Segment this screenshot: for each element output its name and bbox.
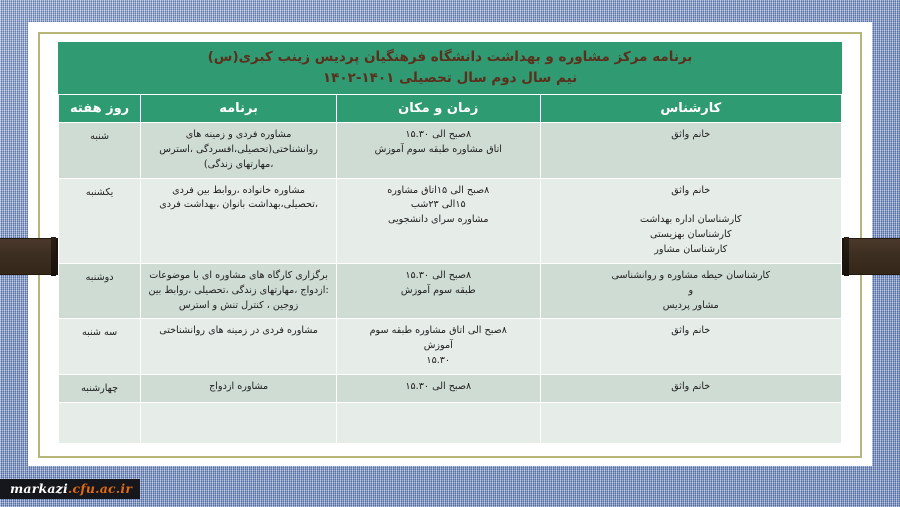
table-row: خانم واثق۸صبح الی اتاق مشاوره طبقه سومآم… [59,319,842,375]
cell-line: کارشناسان اداره بهداشت [548,213,834,228]
cell-program: مشاوره خانواده ،روابط بین فردی ،تحصیلی،ب… [141,178,337,263]
cell-line: کارشناسان حیطه مشاوره و روانشناسی [548,269,834,284]
title-line-2: نیم سال دوم سال تحصیلی ۱۴۰۱-۱۴۰۲ [323,68,577,89]
cell-day [59,402,141,443]
cell-program [141,402,337,443]
table-row: کارشناسان حیطه مشاوره و روانشناسیومشاور … [59,263,842,319]
cell-program: برگزاری کارگاه های مشاوره ای با موضوعات … [141,263,337,319]
column-header-expert: کارشناس [540,95,841,123]
table-row: خانم واثق۸صبح الی ۱۵.۳۰اتاق مشاوره طبقه … [59,123,842,179]
cell-day: دوشنبه [59,263,141,319]
cell-line: ۱۵الی ۲۳شب [344,198,533,213]
schedule-body: خانم واثق۸صبح الی ۱۵.۳۰اتاق مشاوره طبقه … [59,123,842,444]
cell-line: مشاور پردیس [548,299,834,314]
cell-program: مشاوره فردی در زمینه های روانشناختی [141,319,337,375]
watermark-name: markazi [10,481,68,496]
cell-time-place [336,402,540,443]
cell-line: و [548,284,834,299]
cell-line: ۱۵.۳۰ [344,354,533,369]
watermark-domain: .cfu.ac.ir [68,481,132,496]
schedule-table: کارشناس زمان و مکان برنامه روز هفته خانم… [58,94,842,444]
cell-expert: خانم واثق [540,123,841,179]
table-row-empty [59,402,842,443]
cell-day: شنبه [59,123,141,179]
cell-line: ۸صبح الی ۱۵اتاق مشاوره [344,184,533,199]
column-header-time-place: زمان و مکان [336,95,540,123]
ribbon-right [842,238,900,275]
cell-expert: کارشناسان حیطه مشاوره و روانشناسیومشاور … [540,263,841,319]
cell-expert: خانم واثق [540,319,841,375]
column-header-program: برنامه [141,95,337,123]
slide-card: برنامه مرکز مشاوره و بهداشت دانشگاه فرهن… [28,22,872,466]
cell-line: خانم واثق [548,380,834,395]
cell-line: کارشناسان بهزیستی [548,228,834,243]
ribbon-left [0,238,58,275]
cell-line: ۸صبح الی ۱۵.۳۰ [344,128,533,143]
cell-line: ۸صبح الی ۱۵.۳۰ [344,380,533,395]
column-header-day: روز هفته [59,95,141,123]
ribbon-right-fold [844,237,849,276]
cell-expert: خانم واثق کارشناسان اداره بهداشتکارشناسا… [540,178,841,263]
cell-line: خانم واثق [548,184,834,199]
table-row: خانم واثق کارشناسان اداره بهداشتکارشناسا… [59,178,842,263]
cell-line: ۸صبح الی ۱۵.۳۰ [344,269,533,284]
table-header-row: کارشناس زمان و مکان برنامه روز هفته [59,95,842,123]
cell-day: یکشنبه [59,178,141,263]
slide-inner-frame: برنامه مرکز مشاوره و بهداشت دانشگاه فرهن… [38,32,862,458]
title-banner: برنامه مرکز مشاوره و بهداشت دانشگاه فرهن… [58,42,842,94]
cell-time-place: ۸صبح الی ۱۵.۳۰اتاق مشاوره طبقه سوم آموزش [336,123,540,179]
table-row: خانم واثق۸صبح الی ۱۵.۳۰مشاوره ازدواجچهار… [59,375,842,403]
cell-line: کارشناسان مشاور [548,243,834,258]
cell-line: طبقه سوم آموزش [344,284,533,299]
title-line-1: برنامه مرکز مشاوره و بهداشت دانشگاه فرهن… [208,47,693,68]
cell-line [548,198,834,213]
cell-expert [540,402,841,443]
cell-time-place: ۸صبح الی اتاق مشاوره طبقه سومآموزش۱۵.۳۰ [336,319,540,375]
cell-program: مشاوره ازدواج [141,375,337,403]
cell-time-place: ۸صبح الی ۱۵.۳۰ [336,375,540,403]
watermark: markazi.cfu.ac.ir [0,479,140,499]
cell-day: چهارشنبه [59,375,141,403]
cell-program: مشاوره فردی و زمینه های روانشناختی(تحصیل… [141,123,337,179]
cell-line: مشاوره سرای دانشجویی [344,213,533,228]
cell-time-place: ۸صبح الی ۱۵اتاق مشاوره۱۵الی ۲۳شبمشاوره س… [336,178,540,263]
cell-line: اتاق مشاوره طبقه سوم آموزش [344,143,533,158]
cell-time-place: ۸صبح الی ۱۵.۳۰طبقه سوم آموزش [336,263,540,319]
cell-line: آموزش [344,339,533,354]
cell-expert: خانم واثق [540,375,841,403]
cell-line: خانم واثق [548,324,834,339]
ribbon-left-fold [51,237,56,276]
cell-day: سه شنبه [59,319,141,375]
cell-line: ۸صبح الی اتاق مشاوره طبقه سوم [344,324,533,339]
cell-line: خانم واثق [548,128,834,143]
